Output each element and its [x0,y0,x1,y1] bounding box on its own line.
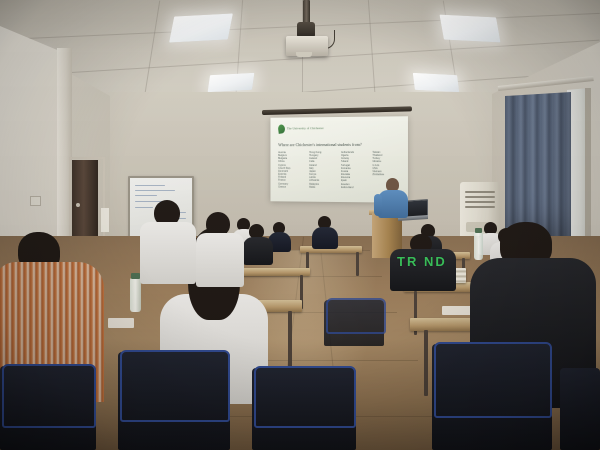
slide-list-item: Greece [278,185,306,188]
slide-column: Netherlands Nigeria Norway Poland Portug… [340,151,369,197]
slide-logo: The University of Chichester [278,124,324,133]
slide-logo-text: The University of Chichester [287,127,324,131]
student-torso [312,227,338,249]
university-logo-icon [278,124,286,134]
slide-column: Austria Belgium Bulgaria China Cyprus Cz… [278,151,306,197]
slide-list-item: Switzerland [340,186,369,189]
student-torso [140,222,196,284]
notes-paper[interactable] [108,318,134,328]
ceiling-light [439,15,500,43]
slide-list-item: Zimbabwe [372,173,401,176]
chair-backrest-rim [254,366,356,428]
water-bottle[interactable] [474,232,483,260]
chair-backrest-rim [326,298,386,334]
projector-lens-icon [296,52,312,57]
student-torso [243,237,273,265]
bottle-cap-icon [131,273,140,279]
ceiling-light [169,14,233,43]
lecturer-torso [378,190,408,218]
chair-backrest-rim [2,364,96,428]
chair-backrest-rim [120,350,230,422]
lecturer-arm [374,194,382,216]
slide-list-item: Malta [309,186,337,189]
student-torso [196,233,244,287]
presentation-slide: The University of Chichester Where are C… [276,121,403,198]
ceiling-light [208,73,255,92]
ceiling-light [413,73,459,92]
slide-title: Where are Chichester's international stu… [278,142,401,147]
wall-notice [101,208,109,232]
window-frame [585,88,591,248]
notes-paper[interactable] [442,306,472,315]
door-knob-icon[interactable] [76,203,80,207]
chair-backrest-rim [434,342,552,418]
slide-column: Hong Kong Hungary Iceland India Ireland … [309,151,337,197]
hoodie-graphic-text: TR ND [397,255,447,268]
chair[interactable] [560,368,600,450]
light-switch[interactable] [30,196,41,206]
water-bottle[interactable] [130,278,141,312]
bottle-cap-icon [475,228,482,233]
classroom-photo: The University of Chichester Where are C… [0,0,600,450]
